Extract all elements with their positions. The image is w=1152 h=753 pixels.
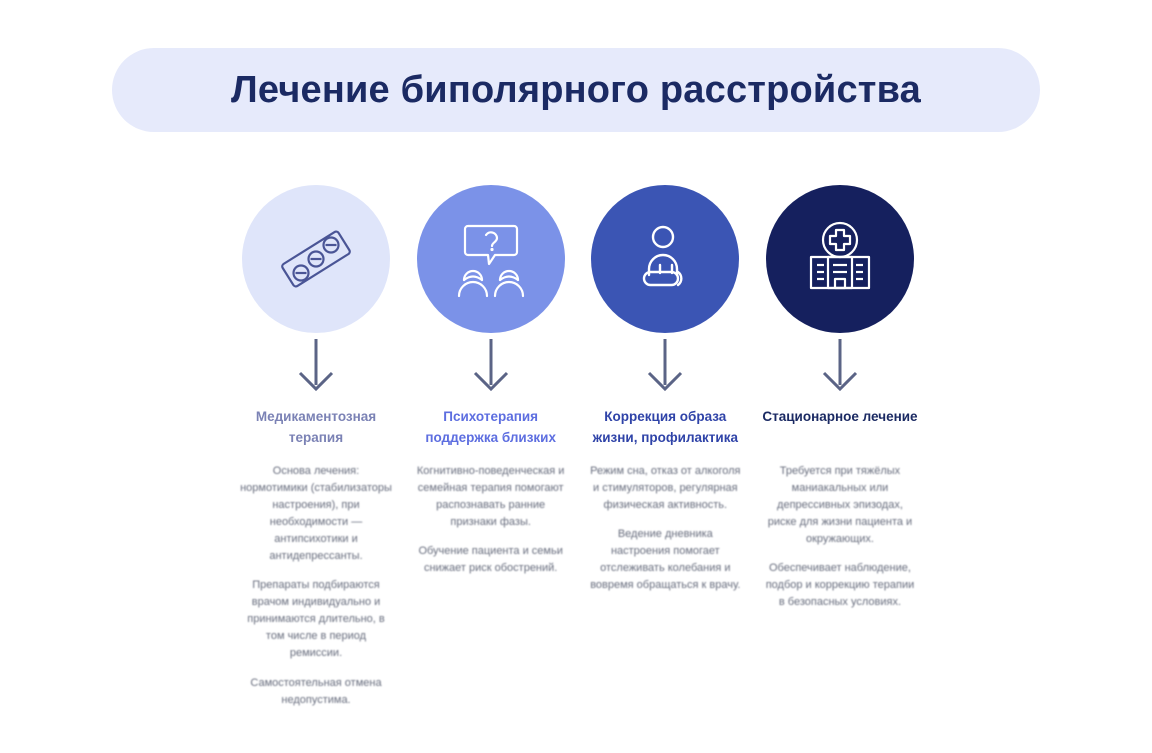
column-medication: Медикаментозная терапия Основа лечения: … bbox=[236, 185, 396, 715]
body-paragraph: Препараты подбираются врачом индивидуаль… bbox=[236, 577, 396, 662]
body-paragraph: Режим сна, отказ от алкоголя и стимулято… bbox=[585, 463, 745, 514]
infographic-canvas: Лечение биполярного расстройства bbox=[0, 0, 1152, 753]
page-title: Лечение биполярного расстройства bbox=[231, 69, 921, 112]
body-paragraph: Самостоятельная отмена недопустима. bbox=[236, 675, 396, 709]
down-arrow-icon bbox=[812, 339, 868, 399]
pill-blister-pack-icon bbox=[273, 216, 359, 302]
meditating-person-icon bbox=[622, 216, 708, 302]
column-body-4: Требуется при тяжёлых маниакальных или д… bbox=[760, 463, 920, 611]
body-paragraph: Основа лечения: нормотимики (стабилизато… bbox=[236, 463, 396, 565]
body-paragraph: Обучение пациента и семьи снижает риск о… bbox=[411, 543, 571, 577]
column-lifestyle: Коррекция образа жизни, профилактика Реж… bbox=[585, 185, 745, 715]
icon-circle-3[interactable] bbox=[591, 185, 739, 333]
body-paragraph: Требуется при тяжёлых маниакальных или д… bbox=[760, 463, 920, 548]
column-heading-3: Коррекция образа жизни, профилактика bbox=[585, 407, 745, 451]
column-psychotherapy: Психотерапия поддержка близких Когнитивн… bbox=[411, 185, 571, 715]
column-inpatient: Стационарное лечение Требуется при тяжёл… bbox=[760, 185, 920, 715]
down-arrow-icon bbox=[637, 339, 693, 399]
arrow-connector-4 bbox=[812, 333, 868, 405]
arrow-connector-1 bbox=[288, 333, 344, 405]
body-paragraph: Ведение дневника настроения помогает отс… bbox=[585, 526, 745, 594]
columns-container: Медикаментозная терапия Основа лечения: … bbox=[236, 185, 920, 715]
column-heading-2: Психотерапия поддержка близких bbox=[411, 407, 571, 451]
down-arrow-icon bbox=[288, 339, 344, 399]
arrow-connector-2 bbox=[463, 333, 519, 405]
column-body-1: Основа лечения: нормотимики (стабилизато… bbox=[236, 463, 396, 709]
column-heading-4: Стационарное лечение bbox=[760, 407, 919, 451]
arrow-connector-3 bbox=[637, 333, 693, 405]
body-paragraph: Обеспечивает наблюдение, подбор и коррек… bbox=[760, 560, 920, 611]
column-heading-1: Медикаментозная терапия bbox=[236, 407, 396, 451]
icon-circle-2[interactable] bbox=[417, 185, 565, 333]
body-paragraph: Когнитивно-поведенческая и семейная тера… bbox=[411, 463, 571, 531]
people-question-bubble-icon bbox=[448, 216, 534, 302]
hospital-building-icon bbox=[797, 216, 883, 302]
column-body-3: Режим сна, отказ от алкоголя и стимулято… bbox=[585, 463, 745, 594]
icon-circle-1[interactable] bbox=[242, 185, 390, 333]
column-body-2: Когнитивно-поведенческая и семейная тера… bbox=[411, 463, 571, 577]
title-banner: Лечение биполярного расстройства bbox=[112, 48, 1040, 132]
down-arrow-icon bbox=[463, 339, 519, 399]
icon-circle-4[interactable] bbox=[766, 185, 914, 333]
